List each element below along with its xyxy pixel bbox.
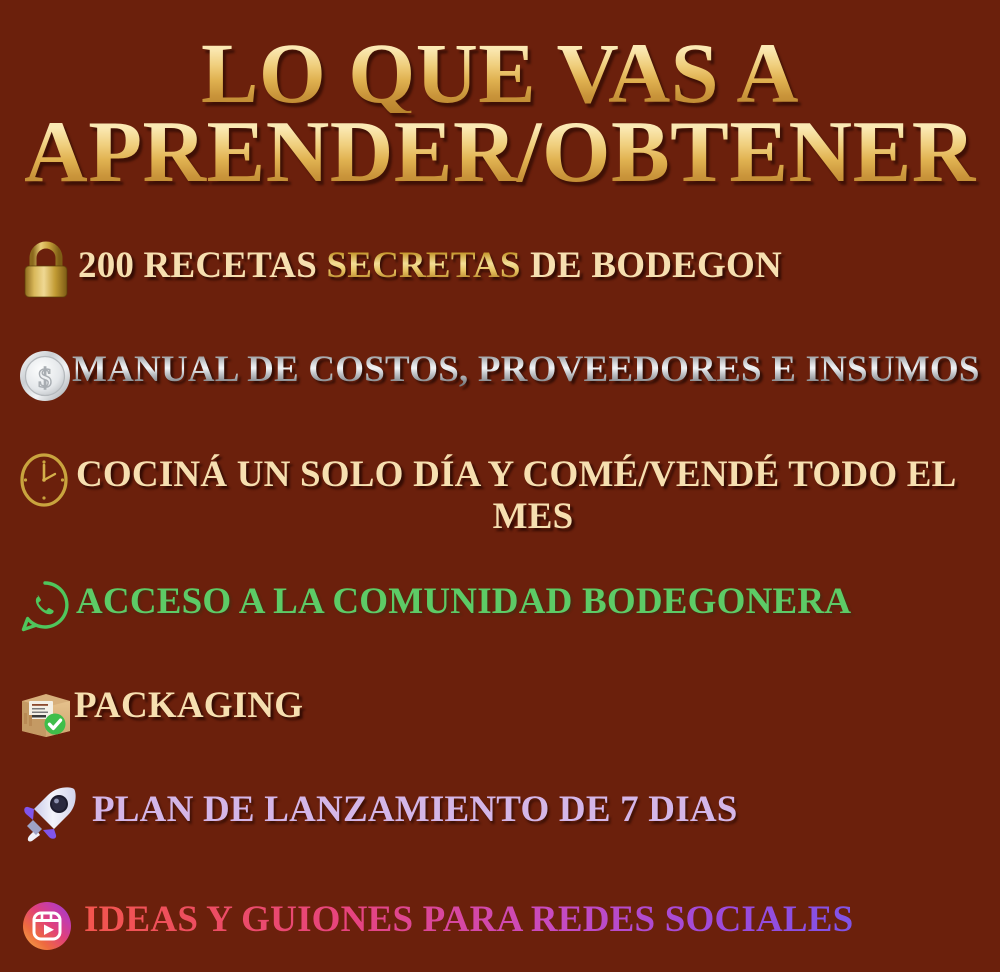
list-item-label-suffix: DE BODEGON	[521, 245, 782, 286]
lock-icon	[18, 241, 74, 301]
dollar-coin-icon: $	[18, 349, 72, 403]
list-item: 200 RECETAS SECRETAS DE BODEGON	[0, 243, 1000, 347]
list-item: PLAN DE LANZAMIENTO DE 7 DIAS	[0, 787, 1000, 897]
list-item: ACCESO A LA COMUNIDAD BODEGONERA	[0, 579, 1000, 683]
list-item-label: COCINÁ UN SOLO DÍA Y COMÉ/VENDÉ TODO ELM…	[72, 452, 990, 538]
page-title-line-2: APRENDER/OBTENER	[0, 113, 1000, 194]
list-item-label: PLAN DE LANZAMIENTO DE 7 DIAS	[78, 787, 990, 831]
list-item-label-line-2: MES	[76, 496, 990, 538]
promo-card: LO QUE VAS A APRENDER/OBTENER	[0, 0, 1000, 972]
rocket-icon	[20, 785, 78, 847]
list-item-label-line-1: COCINÁ UN SOLO DÍA Y COMÉ/VENDÉ TODO EL	[76, 454, 957, 495]
svg-text:$: $	[38, 363, 52, 393]
page-title-line-1: LO QUE VAS A	[0, 34, 1000, 113]
list-item: IDEAS Y GUIONES PARA REDES SOCIALES	[0, 897, 1000, 972]
instagram-reels-icon	[22, 901, 72, 951]
package-check-icon	[18, 687, 74, 739]
list-item-label-prefix: 200 RECETAS	[78, 245, 326, 286]
clock-icon	[18, 452, 72, 510]
list-item: COCINÁ UN SOLO DÍA Y COMÉ/VENDÉ TODO ELM…	[0, 452, 1000, 579]
list-item: PACKAGING	[0, 683, 1000, 787]
list-item-label: IDEAS Y GUIONES PARA REDES SOCIALES	[72, 897, 990, 941]
whatsapp-icon	[18, 579, 72, 635]
list-item-label: 200 RECETAS SECRETAS DE BODEGON	[74, 243, 990, 287]
list-item-label: PACKAGING	[74, 683, 990, 727]
list-item-label: ACCESO A LA COMUNIDAD BODEGONERA	[72, 579, 990, 623]
list-item-label-highlight: SECRETAS	[326, 245, 520, 286]
list-item: $ MANUAL DE COSTOS, PROVEEDORES E INSUMO…	[0, 347, 1000, 452]
page-title: LO QUE VAS A APRENDER/OBTENER	[0, 34, 1000, 194]
list-item-label: MANUAL DE COSTOS, PROVEEDORES E INSUMOS	[72, 347, 990, 391]
feature-list: 200 RECETAS SECRETAS DE BODEGON	[0, 243, 1000, 972]
